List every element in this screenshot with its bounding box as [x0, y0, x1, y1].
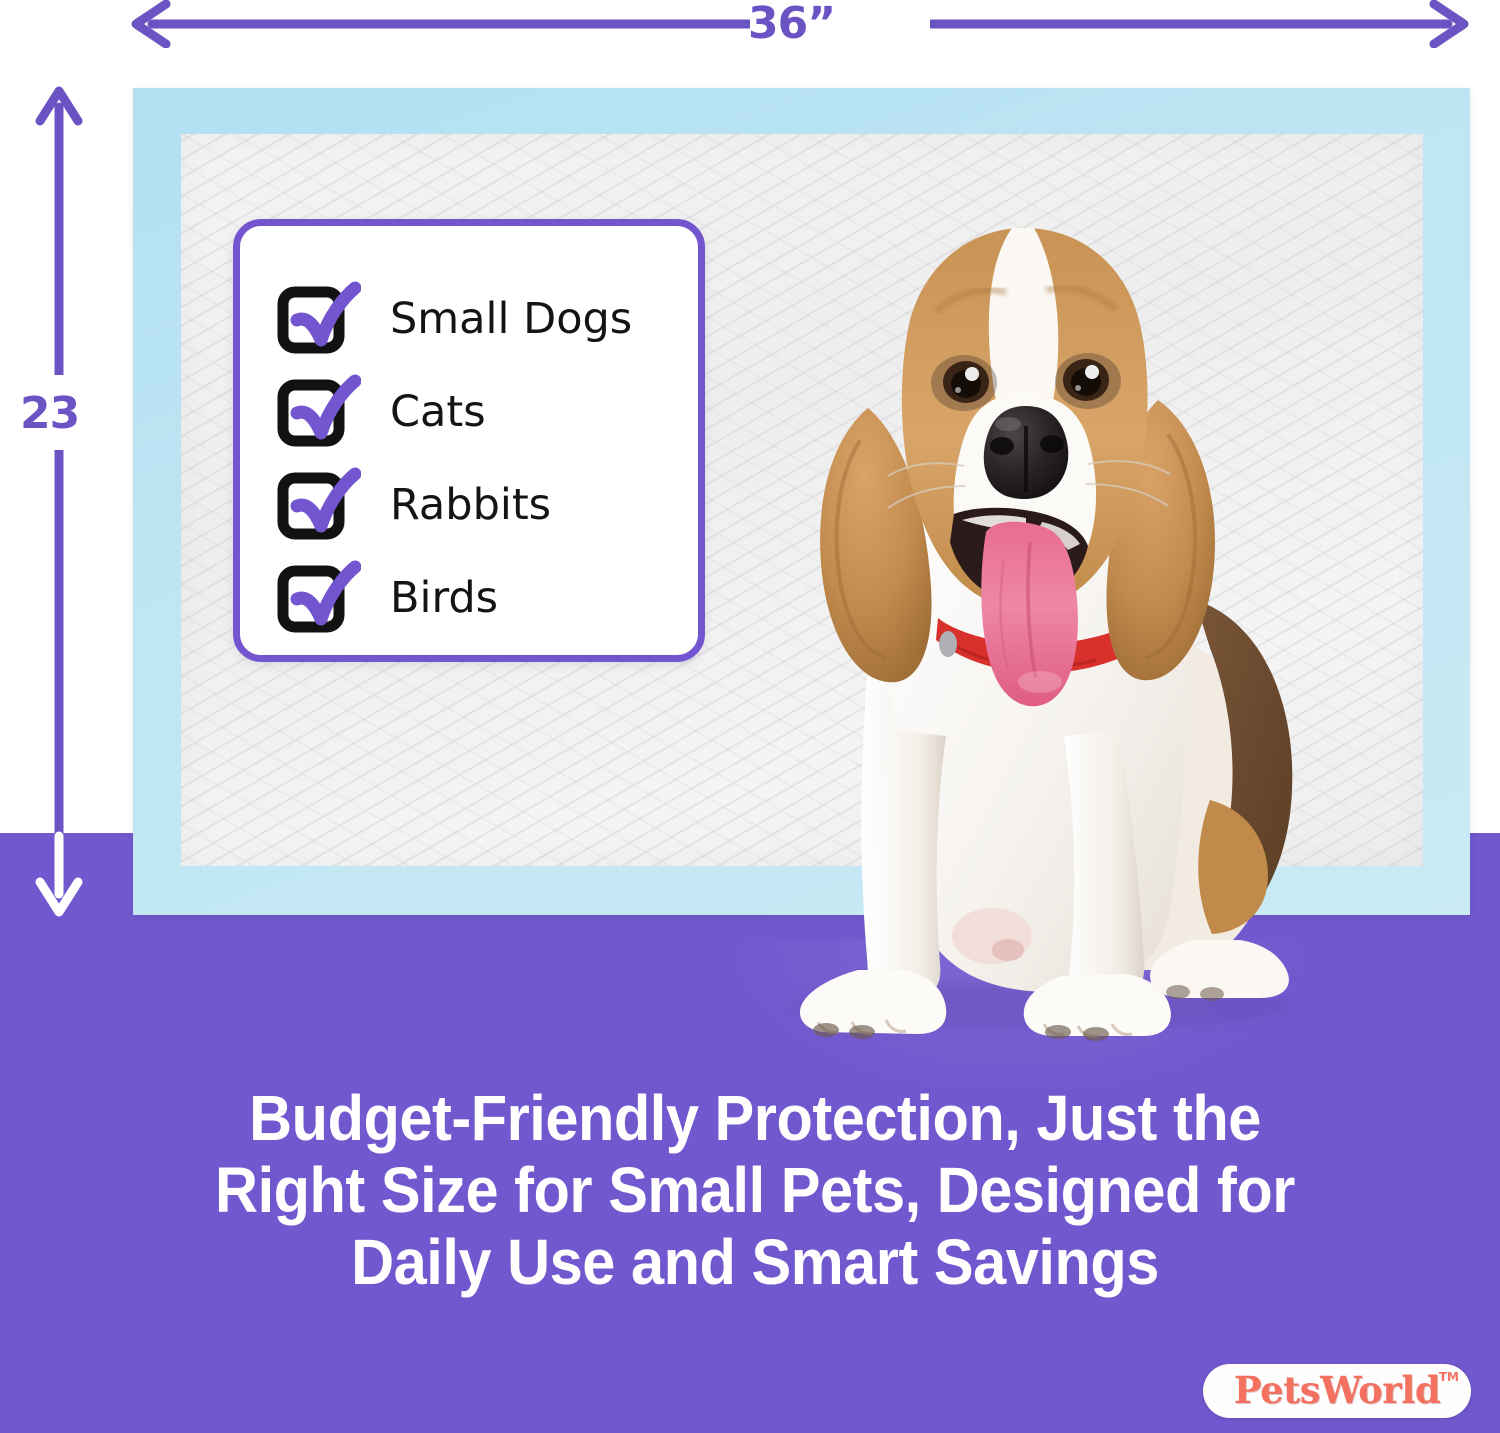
checklist-item-birds: Birds — [282, 551, 678, 644]
checklist-item-small-dogs: Small Dogs — [282, 272, 678, 365]
width-dimension-label: 36” — [748, 0, 835, 48]
checked-checkbox-icon — [282, 567, 344, 629]
headline: Budget-Friendly Protection, Just the Rig… — [155, 1082, 1355, 1298]
checked-checkbox-icon — [282, 381, 344, 443]
checklist-item-rabbits: Rabbits — [282, 458, 678, 551]
checked-checkbox-icon — [282, 288, 344, 350]
height-arrow-down — [35, 450, 83, 920]
headline-line-3: Daily Use and Smart Savings — [155, 1226, 1355, 1298]
checked-checkbox-icon — [282, 474, 344, 536]
headline-line-1: Budget-Friendly Protection, Just the — [155, 1082, 1355, 1154]
height-arrow-up — [35, 85, 83, 375]
product-marketing-image: 36” 23 Small Dogs — [0, 0, 1500, 1433]
checklist-label: Cats — [390, 387, 486, 437]
trademark-symbol: TM — [1439, 1370, 1459, 1384]
suitable-pets-checklist-card: Small Dogs Cats Rabbit — [233, 219, 705, 662]
petsworld-logo: PetsWorld TM — [1203, 1364, 1471, 1418]
beagle-dog-photo — [740, 170, 1310, 1050]
checklist-items: Small Dogs Cats Rabbit — [282, 272, 678, 644]
checklist-label: Birds — [390, 573, 498, 623]
brand-name: PetsWorld — [1203, 1368, 1471, 1412]
width-arrow-right — [930, 0, 1470, 48]
checklist-label: Small Dogs — [390, 294, 632, 344]
height-dimension-label: 23 — [20, 390, 79, 438]
width-arrow-left — [130, 0, 750, 48]
checklist-label: Rabbits — [390, 480, 551, 530]
checklist-item-cats: Cats — [282, 365, 678, 458]
headline-line-2: Right Size for Small Pets, Designed for — [155, 1154, 1355, 1226]
